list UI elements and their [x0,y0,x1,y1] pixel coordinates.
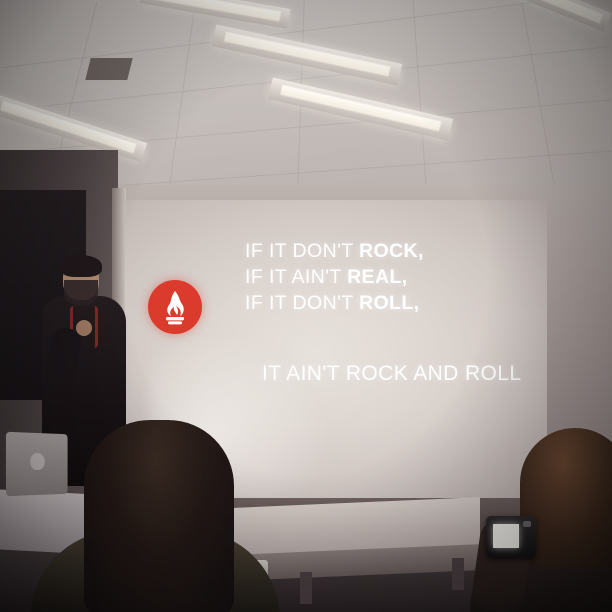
slide-line-3: IF IT DON'T ROLL, [245,290,545,316]
stage-leg-right [452,558,464,590]
slide-line-1: IF IT DON'T ROCK, [245,238,545,264]
camera-screen [493,524,519,548]
presenter-hair [60,255,102,277]
slide-line-2: IF IT AIN'T REAL, [245,264,545,290]
laptop-logo-icon [30,453,44,470]
slide-conclusion: IT AIN'T ROCK AND ROLL [262,362,521,386]
stage-leg-mid [300,572,312,604]
presenter-beard [64,280,98,306]
microphone-icon [82,300,90,326]
slide-text-block: IF IT DON'T ROCK, IF IT AIN'T REAL, IF I… [245,238,545,316]
handheld-camera [486,516,536,558]
flame-logo [148,280,202,334]
laptop [6,432,68,497]
camera-button [523,521,531,527]
ceiling-vent [85,58,132,80]
photo-scene: IF IT DON'T ROCK, IF IT AIN'T REAL, IF I… [0,0,612,612]
audience-center-head [84,420,234,612]
